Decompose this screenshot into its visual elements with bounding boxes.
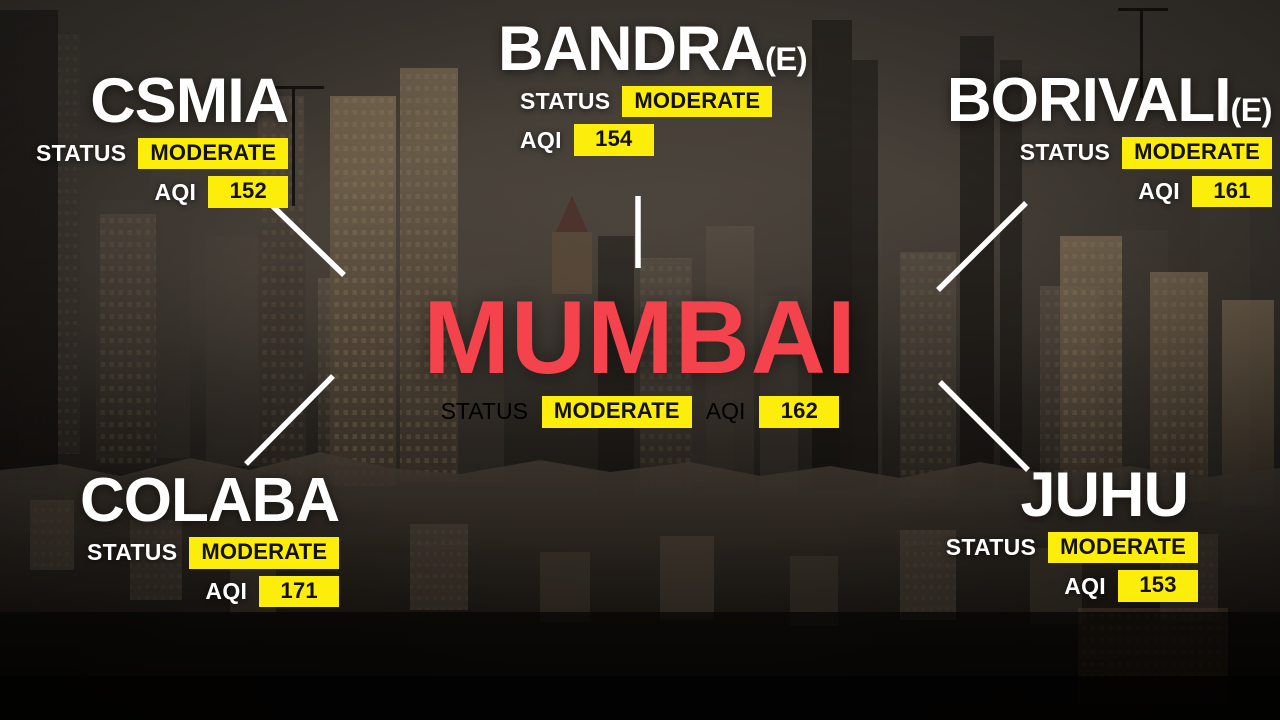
- status-label: STATUS: [946, 534, 1036, 561]
- aqi-label: AQI: [205, 578, 247, 605]
- station-metrics-bandra: STATUS MODERATE AQI 154: [520, 86, 807, 156]
- infographic-stage: CSMIA STATUS MODERATE AQI 152 BANDRA(E) …: [0, 0, 1280, 720]
- status-badge: MODERATE: [189, 537, 339, 569]
- status-row: STATUS MODERATE: [520, 86, 807, 118]
- status-label: STATUS: [1020, 139, 1110, 166]
- aqi-badge: 154: [574, 124, 654, 156]
- station-name-bandra: BANDRA(E): [498, 20, 807, 80]
- aqi-label: AQI: [1064, 573, 1106, 600]
- station-card-bandra: BANDRA(E) STATUS MODERATE AQI 154: [498, 20, 807, 163]
- status-row: STATUS MODERATE: [946, 532, 1198, 564]
- city-card-mumbai: MUMBAI STATUS MODERATE AQI 162: [0, 286, 1280, 428]
- station-metrics-colaba: STATUS MODERATE AQI 171: [80, 537, 339, 607]
- aqi-label: AQI: [1138, 178, 1180, 205]
- aqi-label: AQI: [154, 179, 196, 206]
- status-badge: MODERATE: [1122, 137, 1272, 169]
- station-name-text: BANDRA: [498, 14, 765, 84]
- aqi-label: AQI: [520, 127, 562, 154]
- aqi-row: AQI 161: [947, 176, 1272, 208]
- status-row: STATUS MODERATE: [36, 138, 288, 170]
- status-badge: MODERATE: [138, 138, 288, 170]
- city-metrics-mumbai: STATUS MODERATE AQI 162: [0, 396, 1280, 428]
- aqi-row: AQI 154: [520, 124, 807, 156]
- station-name-csmia: CSMIA: [88, 72, 288, 132]
- station-name-borivali: BORIVALI(E): [947, 72, 1272, 131]
- station-metrics-juhu: STATUS MODERATE AQI 153: [946, 532, 1198, 602]
- aqi-row: AQI 152: [36, 176, 288, 208]
- status-row: STATUS MODERATE: [947, 137, 1272, 169]
- status-label: STATUS: [87, 539, 177, 566]
- aqi-badge: 152: [208, 176, 288, 208]
- station-card-csmia: CSMIA STATUS MODERATE AQI 152: [36, 72, 288, 215]
- aqi-row: AQI 171: [80, 576, 339, 608]
- station-card-colaba: COLABA STATUS MODERATE AQI 171: [80, 472, 339, 614]
- aqi-badge: 161: [1192, 176, 1272, 208]
- status-label: STATUS: [520, 88, 610, 115]
- station-card-juhu: JUHU STATUS MODERATE AQI 153: [946, 466, 1198, 609]
- status-row: STATUS MODERATE: [80, 537, 339, 569]
- station-name-suffix: (E): [1231, 92, 1272, 128]
- status-badge: MODERATE: [542, 396, 692, 428]
- station-name-text: JUHU: [1020, 460, 1188, 530]
- station-name-text: CSMIA: [90, 66, 288, 136]
- city-title-mumbai: MUMBAI: [0, 286, 1280, 390]
- station-name-text: BORIVALI: [947, 66, 1231, 135]
- station-card-borivali: BORIVALI(E) STATUS MODERATE AQI 161: [947, 72, 1272, 214]
- aqi-label: AQI: [706, 398, 746, 425]
- station-metrics-csmia: STATUS MODERATE AQI 152: [36, 138, 288, 208]
- status-badge: MODERATE: [1048, 532, 1198, 564]
- aqi-row: AQI 153: [946, 570, 1198, 602]
- status-label: STATUS: [36, 140, 126, 167]
- status-label: STATUS: [441, 398, 528, 425]
- station-name-juhu: JUHU: [946, 466, 1188, 526]
- station-name-colaba: COLABA: [80, 472, 339, 531]
- station-metrics-borivali: STATUS MODERATE AQI 161: [947, 137, 1272, 207]
- station-name-text: COLABA: [80, 466, 339, 535]
- station-name-suffix: (E): [765, 40, 807, 77]
- aqi-badge: 162: [759, 396, 839, 428]
- aqi-badge: 171: [259, 576, 339, 608]
- status-badge: MODERATE: [622, 86, 772, 118]
- aqi-badge: 153: [1118, 570, 1198, 602]
